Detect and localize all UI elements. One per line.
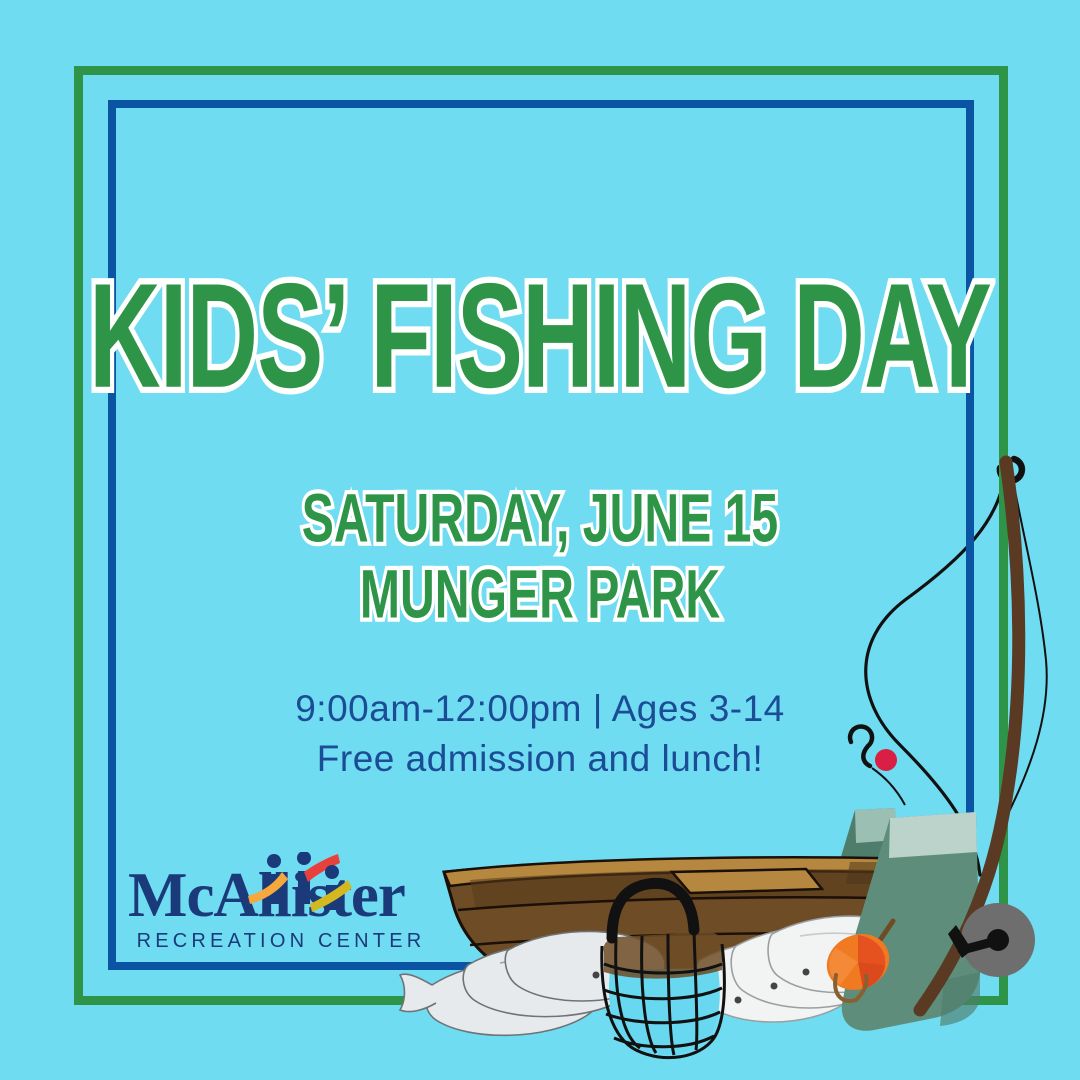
organization-logo: McAllister RECREATION CENTER (128, 858, 428, 968)
logo-people-icon (248, 852, 368, 914)
boat-bench (672, 869, 822, 893)
logo-tagline: RECREATION CENTER (134, 930, 428, 953)
poster-canvas: KIDS’ FISHING DAY SATURDAY, JUNE 15 MUNG… (0, 0, 1080, 1080)
